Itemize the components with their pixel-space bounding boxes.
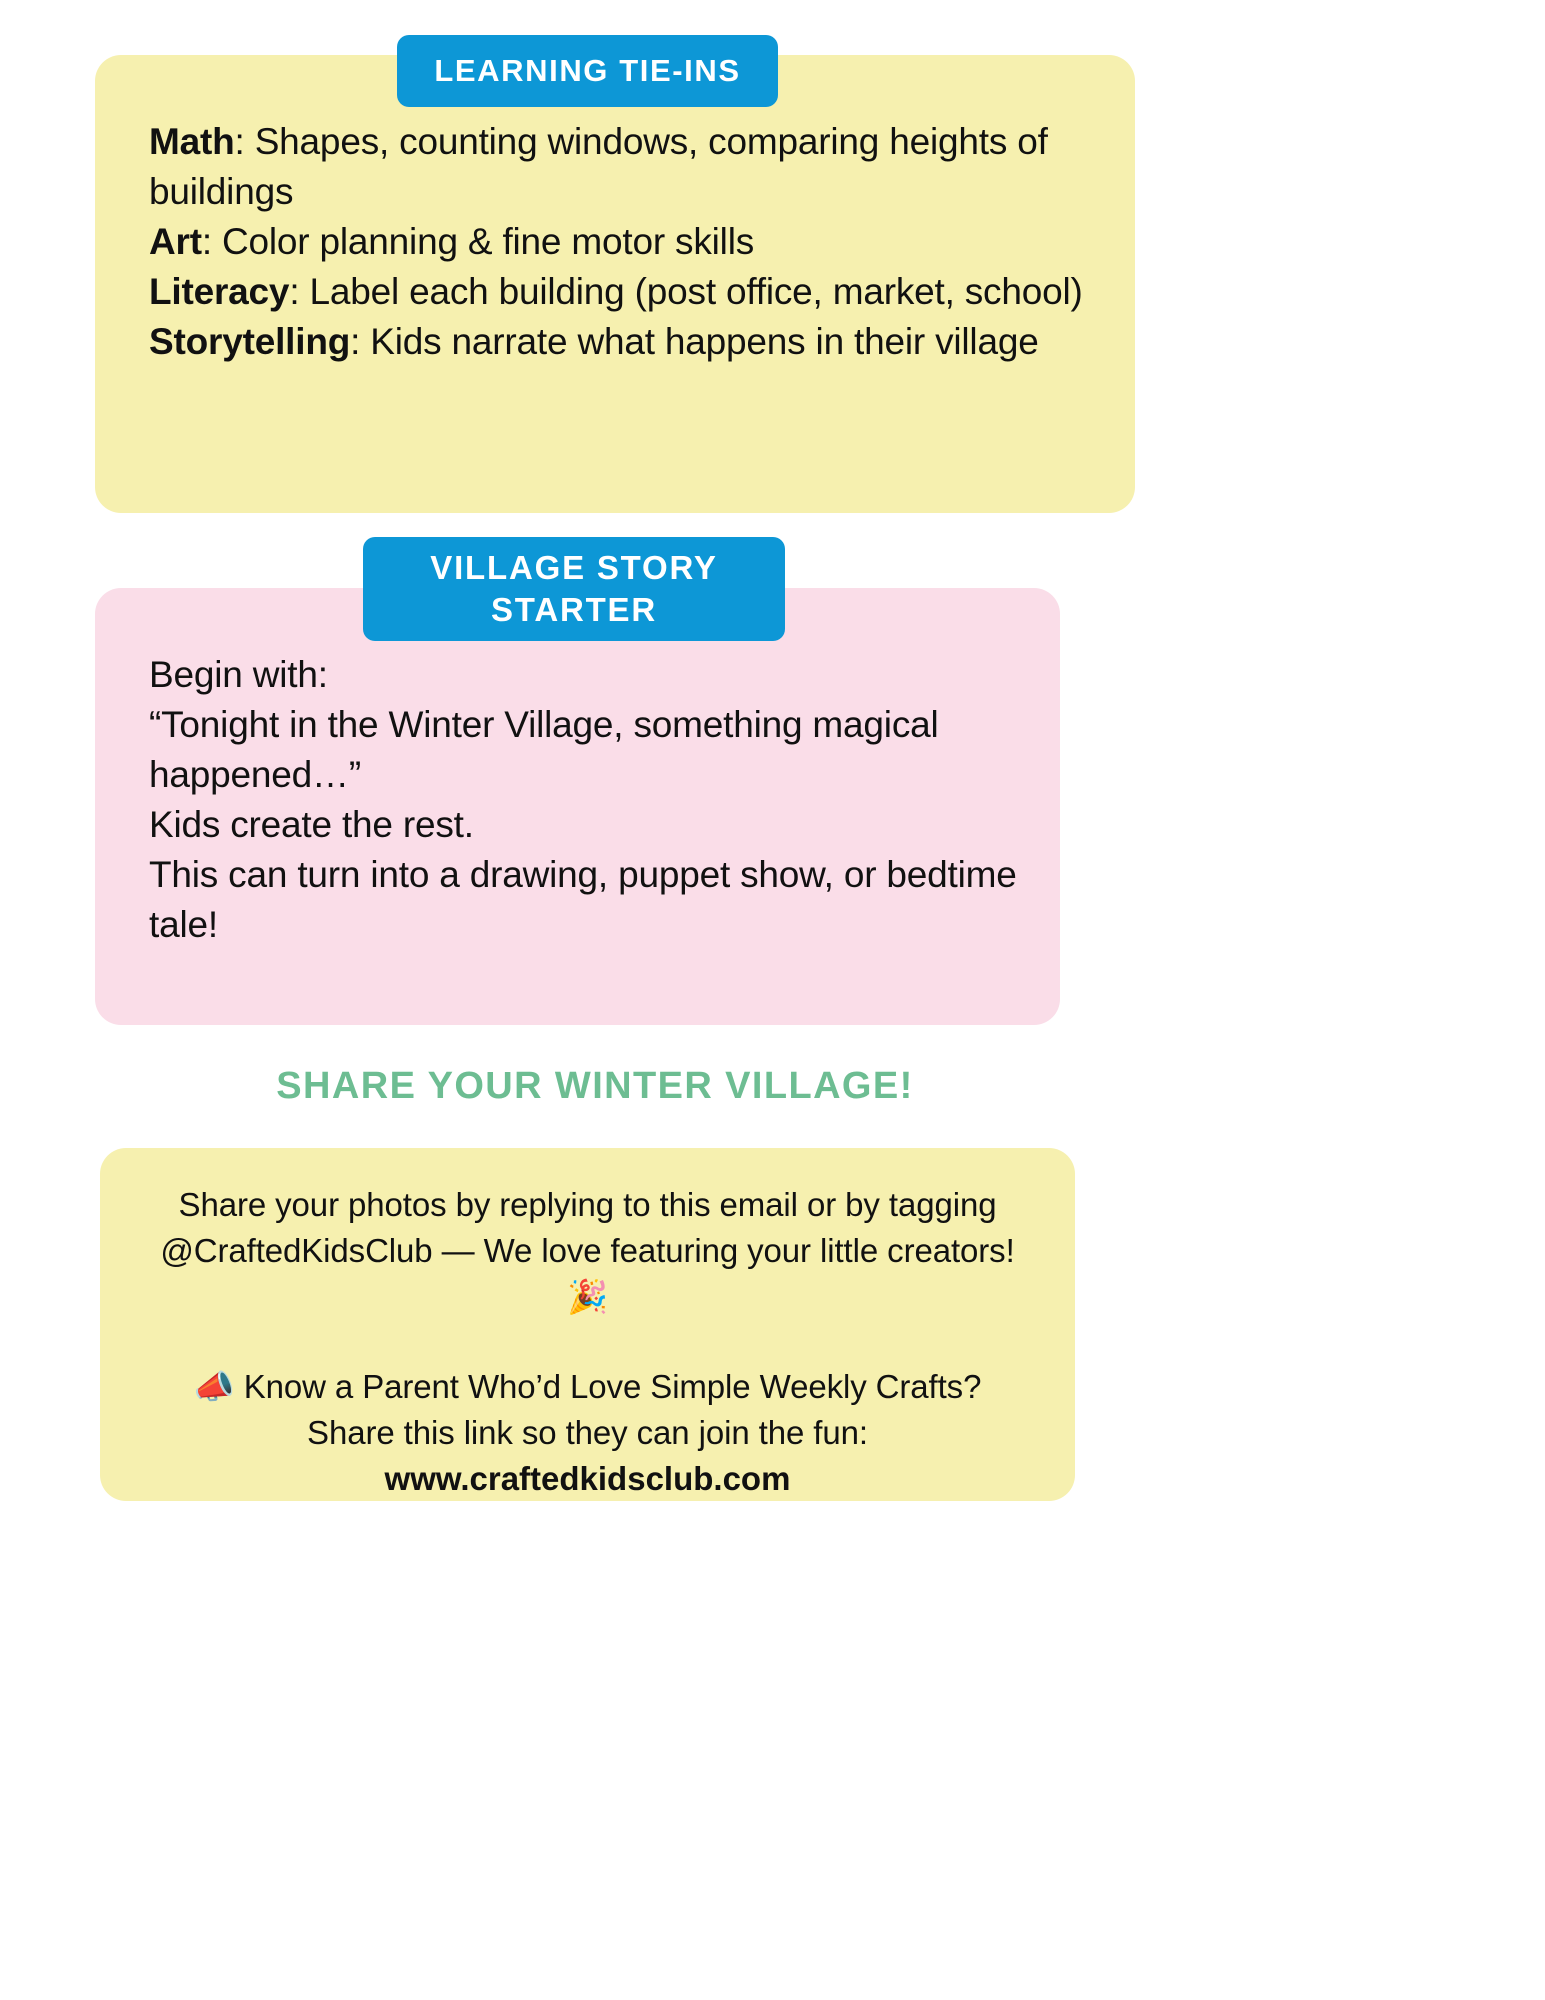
share-paragraph-referral: 📣 Know a Parent Who’d Love Simple Weekly…: [142, 1364, 1033, 1502]
share-card: Share your photos by replying to this em…: [100, 1148, 1075, 1501]
village-story-starter-card: Begin with: “Tonight in the Winter Villa…: [95, 588, 1060, 1025]
item-detail: Kids narrate what happens in their villa…: [370, 321, 1038, 362]
story-line: “Tonight in the Winter Village, somethin…: [149, 704, 939, 795]
share-paragraph-photos: Share your photos by replying to this em…: [142, 1182, 1033, 1320]
story-line: Begin with:: [149, 654, 328, 695]
megaphone-icon: 📣: [194, 1367, 235, 1406]
item-separator: :: [202, 221, 222, 262]
list-item: Math: Shapes, counting windows, comparin…: [149, 121, 1048, 212]
item-term: Storytelling: [149, 321, 350, 362]
share-paragraph-photos-text: Share your photos by replying to this em…: [160, 1186, 1014, 1269]
item-detail: Label each building (post office, market…: [309, 271, 1082, 312]
village-story-starter-badge-label-line2: STARTER: [373, 589, 775, 631]
share-referral-line2: Share this link so they can join the fun…: [307, 1414, 868, 1451]
learning-tie-ins-list: Math: Shapes, counting windows, comparin…: [149, 117, 1083, 367]
item-term: Math: [149, 121, 235, 162]
village-story-lines: Begin with: “Tonight in the Winter Villa…: [149, 650, 1020, 950]
list-item: Literacy: Label each building (post offi…: [149, 271, 1083, 312]
item-term: Art: [149, 221, 202, 262]
party-popper-icon: 🎉: [567, 1277, 608, 1316]
learning-tie-ins-badge: LEARNING TIE-INS: [397, 35, 778, 107]
share-section-heading: SHARE YOUR WINTER VILLAGE!: [0, 1065, 1190, 1108]
story-line: This can turn into a drawing, puppet sho…: [149, 854, 1017, 945]
item-detail: Shapes, counting windows, comparing heig…: [149, 121, 1048, 212]
share-referral-line1: Know a Parent Who’d Love Simple Weekly C…: [235, 1368, 982, 1405]
item-detail: Color planning & fine motor skills: [222, 221, 754, 262]
newsletter-page: LEARNING TIE-INS Math: Shapes, counting …: [0, 0, 1545, 2000]
crafted-kids-club-url[interactable]: www.craftedkidsclub.com: [142, 1456, 1033, 1502]
learning-tie-ins-card: Math: Shapes, counting windows, comparin…: [95, 55, 1135, 513]
village-story-starter-badge: VILLAGE STORY STARTER: [363, 537, 785, 641]
story-line: Kids create the rest.: [149, 804, 474, 845]
learning-tie-ins-badge-label: LEARNING TIE-INS: [434, 53, 740, 89]
list-item: Storytelling: Kids narrate what happens …: [149, 321, 1039, 362]
item-term: Literacy: [149, 271, 289, 312]
village-story-starter-badge-label-line1: VILLAGE STORY: [373, 547, 775, 589]
item-separator: :: [289, 271, 309, 312]
list-item: Art: Color planning & fine motor skills: [149, 221, 754, 262]
item-separator: :: [235, 121, 255, 162]
item-separator: :: [350, 321, 370, 362]
